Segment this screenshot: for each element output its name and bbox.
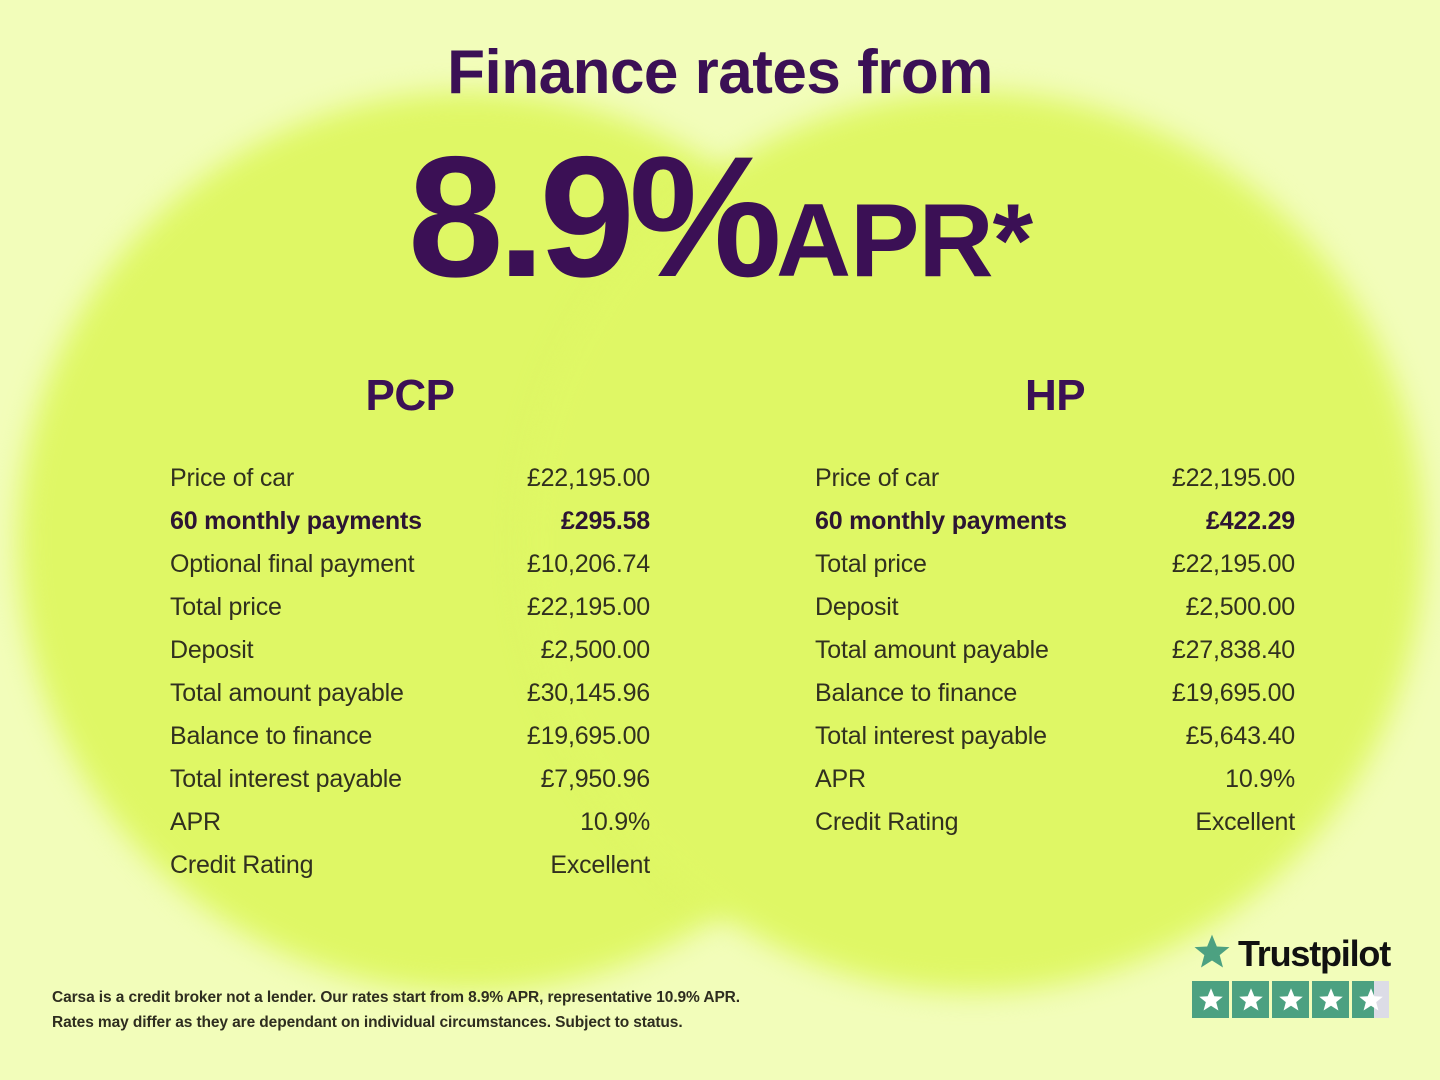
row-label: APR: [170, 808, 221, 837]
table-row: Deposit£2,500.00: [815, 593, 1295, 636]
row-value: £30,145.96: [527, 679, 650, 708]
row-value: Excellent: [550, 851, 650, 880]
table-row: Balance to finance£19,695.00: [815, 679, 1295, 722]
table-row: 60 monthly payments£422.29: [815, 507, 1295, 550]
row-value: £5,643.40: [1186, 722, 1295, 751]
row-value: 10.9%: [580, 808, 650, 837]
row-value: £2,500.00: [1186, 593, 1295, 622]
plan-rows-pcp: Price of car£22,195.0060 monthly payment…: [170, 464, 650, 894]
row-label: Balance to finance: [815, 679, 1017, 708]
row-value: £7,950.96: [541, 765, 650, 794]
table-row: Price of car£22,195.00: [815, 464, 1295, 507]
apr-headline: 8.9%APR*: [0, 122, 1440, 312]
trustpilot-star-icon: [1192, 932, 1232, 977]
table-row: Balance to finance£19,695.00: [170, 722, 650, 765]
plan-rows-hp: Price of car£22,195.0060 monthly payment…: [815, 464, 1295, 851]
row-value: £422.29: [1206, 507, 1295, 536]
row-label: Balance to finance: [170, 722, 372, 751]
table-row: Total amount payable£30,145.96: [170, 679, 650, 722]
row-label: Deposit: [815, 593, 898, 622]
trustpilot-star-icon: [1272, 981, 1309, 1018]
plan-title-hp: HP: [815, 372, 1295, 420]
table-row: 60 monthly payments£295.58: [170, 507, 650, 550]
trustpilot-star-rating: [1192, 981, 1392, 1018]
table-row: APR10.9%: [815, 765, 1295, 808]
table-row: Total interest payable£5,643.40: [815, 722, 1295, 765]
row-label: Total interest payable: [170, 765, 402, 794]
row-value: £22,195.00: [1172, 464, 1295, 493]
table-row: Total price£22,195.00: [815, 550, 1295, 593]
plan-column-hp: HP Price of car£22,195.0060 monthly paym…: [815, 372, 1295, 851]
row-label: 60 monthly payments: [170, 507, 422, 536]
row-value: £22,195.00: [527, 464, 650, 493]
row-value: Excellent: [1195, 808, 1295, 837]
apr-rate-value: 8.9%: [408, 121, 776, 313]
row-label: Price of car: [170, 464, 294, 493]
row-value: £10,206.74: [527, 550, 650, 579]
trustpilot-star-icon: [1192, 981, 1229, 1018]
trustpilot-star-icon: [1312, 981, 1349, 1018]
plan-column-pcp: PCP Price of car£22,195.0060 monthly pay…: [170, 372, 650, 894]
table-row: Credit RatingExcellent: [815, 808, 1295, 851]
table-row: Credit RatingExcellent: [170, 851, 650, 894]
row-label: APR: [815, 765, 866, 794]
table-row: Optional final payment£10,206.74: [170, 550, 650, 593]
row-value: £295.58: [561, 507, 650, 536]
trustpilot-badge[interactable]: Trustpilot: [1192, 930, 1392, 1018]
table-row: APR10.9%: [170, 808, 650, 851]
row-value: £19,695.00: [527, 722, 650, 751]
row-label: Total interest payable: [815, 722, 1047, 751]
row-value: £22,195.00: [527, 593, 650, 622]
row-label: Optional final payment: [170, 550, 414, 579]
row-label: Total price: [170, 593, 282, 622]
row-value: £27,838.40: [1172, 636, 1295, 665]
plan-title-pcp: PCP: [170, 372, 650, 420]
trustpilot-wordmark: Trustpilot: [1238, 934, 1390, 974]
row-value: 10.9%: [1225, 765, 1295, 794]
row-label: 60 monthly payments: [815, 507, 1067, 536]
disclaimer-line-1: Carsa is a credit broker not a lender. O…: [52, 985, 812, 1010]
row-label: Credit Rating: [815, 808, 958, 837]
row-value: £19,695.00: [1172, 679, 1295, 708]
disclaimer-line-2: Rates may differ as they are dependant o…: [52, 1010, 812, 1035]
trustpilot-star-icon: [1232, 981, 1269, 1018]
trustpilot-star-icon: [1352, 981, 1389, 1018]
row-label: Deposit: [170, 636, 253, 665]
row-value: £22,195.00: [1172, 550, 1295, 579]
table-row: Total price£22,195.00: [170, 593, 650, 636]
row-label: Total amount payable: [815, 636, 1049, 665]
apr-suffix-label: APR*: [776, 183, 1032, 299]
row-value: £2,500.00: [541, 636, 650, 665]
row-label: Total amount payable: [170, 679, 404, 708]
table-row: Total amount payable£27,838.40: [815, 636, 1295, 679]
table-row: Total interest payable£7,950.96: [170, 765, 650, 808]
trustpilot-logo: Trustpilot: [1192, 930, 1392, 978]
table-row: Deposit£2,500.00: [170, 636, 650, 679]
disclaimer-text: Carsa is a credit broker not a lender. O…: [52, 985, 812, 1035]
row-label: Credit Rating: [170, 851, 313, 880]
table-row: Price of car£22,195.00: [170, 464, 650, 507]
page-title: Finance rates from: [0, 38, 1440, 108]
row-label: Price of car: [815, 464, 939, 493]
row-label: Total price: [815, 550, 927, 579]
